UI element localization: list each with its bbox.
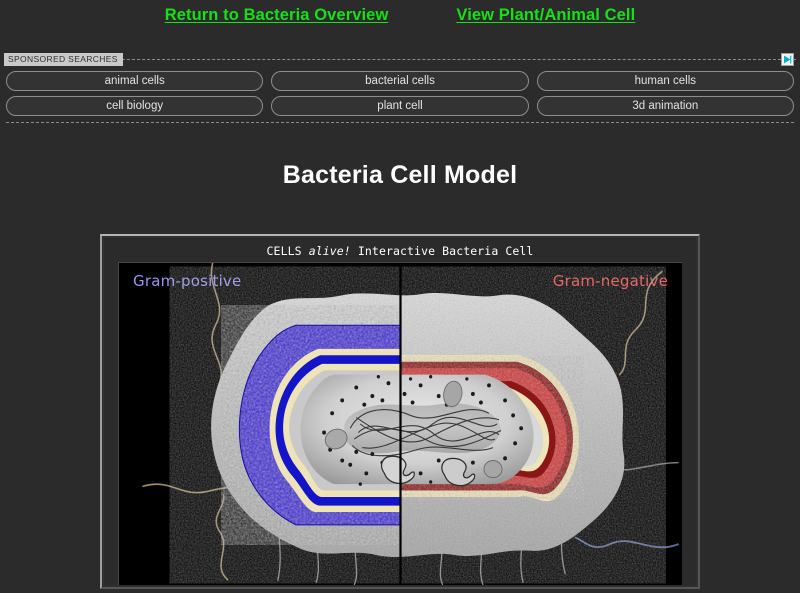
sponsored-search-links: animal cells bacterial cells human cells… [4,66,796,122]
ad-pill-cell-biology[interactable]: cell biology [6,96,263,116]
bacteria-cell-diagram[interactable] [119,263,682,585]
ad-pill-human-cells[interactable]: human cells [537,71,794,91]
ad-dashed-rule [122,59,796,60]
nucleoid-dna[interactable] [344,403,501,455]
applet-caption-emphasis: alive! [309,244,351,258]
applet-inner-frame: CELLS alive! Interactive Bacteria Cell G… [104,238,696,585]
top-navigation: Return to Bacteria Overview View Plant/A… [0,0,800,52]
bacteria-cell-applet-frame: CELLS alive! Interactive Bacteria Cell G… [100,234,700,589]
page-title: Bacteria Cell Model [0,161,800,190]
adchoices-triangle-icon[interactable] [781,53,794,66]
ad-footer-rule [6,122,794,123]
ad-pill-animal-cells[interactable]: animal cells [6,71,263,91]
ad-header-rule: SPONSORED SEARCHES [4,52,796,66]
link-view-plant-animal-cell[interactable]: View Plant/Animal Cell [456,6,635,25]
applet-caption: CELLS alive! Interactive Bacteria Cell [108,241,692,262]
ad-pill-3d-animation[interactable]: 3d animation [537,96,794,116]
sponsored-searches-ad-block: SPONSORED SEARCHES animal cells bacteria… [4,52,796,123]
bacteria-cell-applet-wrapper: CELLS alive! Interactive Bacteria Cell G… [0,234,800,589]
applet-caption-prefix: CELLS [267,244,309,258]
link-return-to-bacteria-overview[interactable]: Return to Bacteria Overview [165,6,389,25]
ad-pill-plant-cell[interactable]: plant cell [271,96,528,116]
applet-caption-suffix: Interactive Bacteria Cell [351,244,534,258]
sponsored-searches-label: SPONSORED SEARCHES [4,53,123,66]
ad-pill-bacterial-cells[interactable]: bacterial cells [271,71,528,91]
interactive-cell-stage[interactable]: Gram-positive Gram-negative [118,262,682,585]
